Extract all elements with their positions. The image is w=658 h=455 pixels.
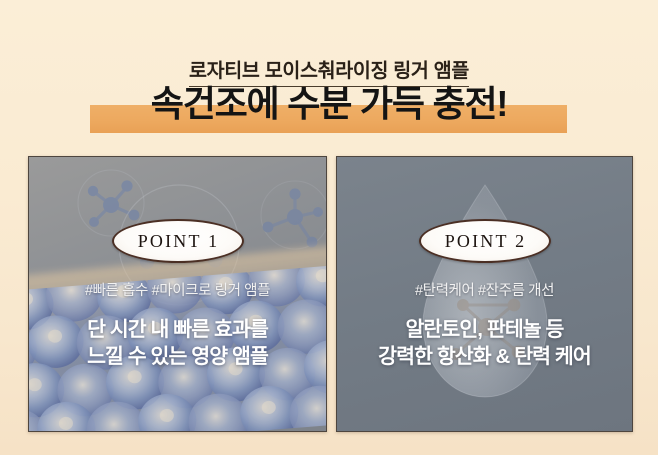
- point-1-description: 단 시간 내 빠른 효과를 느낄 수 있는 영양 앰플: [29, 316, 326, 370]
- point-1-line-1: 단 시간 내 빠른 효과를: [87, 318, 268, 341]
- point-badge-1-label: POINT 1: [136, 231, 220, 252]
- promo-banner: 로자티브 모이스춰라이징 링거 앰플 속건조에 수분 가득 충전!: [0, 0, 658, 455]
- point-2-line-1: 알란토인, 판테놀 등: [405, 318, 563, 341]
- header: 로자티브 모이스춰라이징 링거 앰플 속건조에 수분 가득 충전!: [0, 0, 658, 150]
- point-1-hashtags: #빠른 흡수 #마이크로 링거 앰플: [29, 279, 326, 300]
- point-card-1: POINT 1 #빠른 흡수 #마이크로 링거 앰플 단 시간 내 빠른 효과를…: [28, 156, 327, 432]
- point-2-line-2: 강력한 항산화 & 탄력 케어: [337, 343, 632, 370]
- page-title: 속건조에 수분 가득 충전!: [0, 86, 658, 122]
- point-badge-2-label: POINT 2: [443, 231, 527, 252]
- point-card-2: POINT 2 #탄력케어 #잔주름 개선 알란토인, 판테놀 등 강력한 항산…: [336, 156, 633, 432]
- molecule-icon: [261, 181, 326, 249]
- point-2-description: 알란토인, 판테놀 등 강력한 항산화 & 탄력 케어: [337, 316, 632, 370]
- point-2-hashtags: #탄력케어 #잔주름 개선: [337, 279, 632, 300]
- point-badge-2: POINT 2: [419, 219, 551, 263]
- point-1-line-2: 느낄 수 있는 영양 앰플: [29, 343, 326, 370]
- point-badge-1: POINT 1: [112, 219, 244, 263]
